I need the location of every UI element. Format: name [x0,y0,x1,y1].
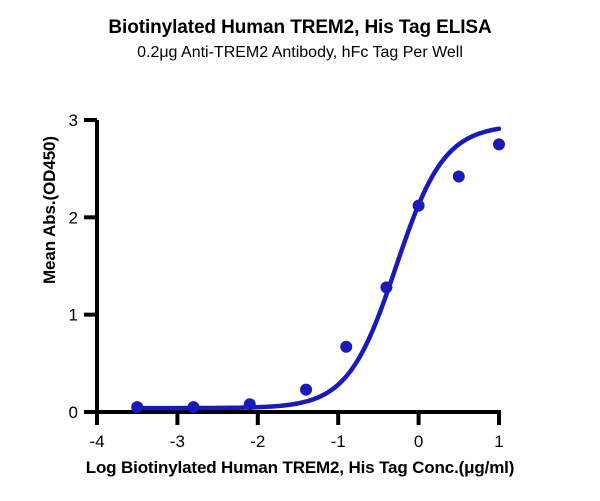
data-point [131,401,143,413]
x-tick-label: -1 [331,432,346,451]
x-tick-label: 1 [494,432,503,451]
sigmoid-fit-curve [137,129,499,408]
data-point [187,401,199,413]
x-tick-label: -3 [170,432,185,451]
y-tick-label: 2 [69,208,78,227]
x-tick-label: 0 [414,432,423,451]
data-point [493,138,505,150]
data-point [380,281,392,293]
y-tick-label: 1 [69,306,78,325]
data-point [300,384,312,396]
y-axis-tick-labels: 0123 [69,111,78,422]
elisa-chart-figure: Biotinylated Human TREM2, His Tag ELISA … [0,0,600,501]
data-point-markers [131,138,505,413]
y-tick-label: 3 [69,111,78,130]
data-point [413,200,425,212]
x-axis-title: Log Biotinylated Human TREM2, His Tag Co… [0,458,600,478]
data-point [244,398,256,410]
x-tick-label: -2 [250,432,265,451]
y-axis-title: Mean Abs.(OD450) [40,60,60,360]
y-tick-label: 0 [69,403,78,422]
x-axis-tick-labels: -4-3-2-101 [89,432,503,451]
plot-area: 0123 -4-3-2-101 [0,0,600,501]
x-tick-label: -4 [89,432,104,451]
data-point [340,341,352,353]
data-point [453,170,465,182]
